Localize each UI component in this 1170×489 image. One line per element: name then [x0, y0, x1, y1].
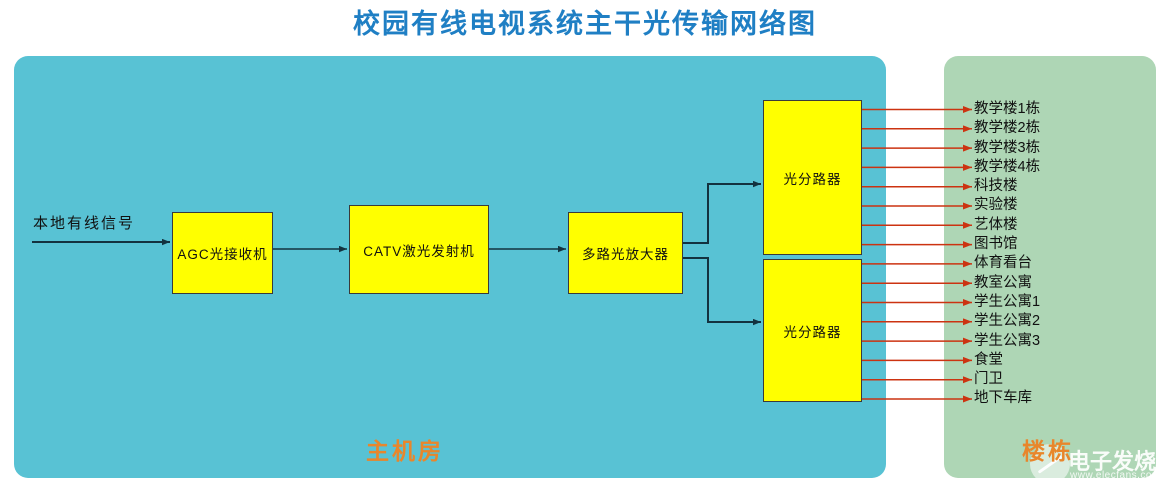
source-signal-label: 本地有线信号 [33, 212, 135, 233]
destination-item: 教学楼1栋 [974, 100, 1164, 119]
destination-item: 实验楼 [974, 196, 1164, 215]
destination-item: 门卫 [974, 370, 1164, 389]
destination-item: 教室公寓 [974, 274, 1164, 293]
watermark-url: www.elecfans.com [1070, 470, 1161, 481]
destination-item: 学生公寓1 [974, 293, 1164, 312]
destination-item: 食堂 [974, 351, 1164, 370]
equipment-box-optical-splitter-2[interactable]: 光分路器 [763, 259, 862, 402]
equipment-box-catv-transmitter[interactable]: CATV激光发射机 [349, 205, 489, 294]
diagram-canvas: 校园有线电视系统主干光传输网络图 本地有线信号 AGC光接收机 CATV激光发射… [0, 0, 1170, 489]
equipment-label: 光分路器 [784, 321, 842, 341]
destination-item: 体育看台 [974, 254, 1164, 273]
destination-item: 学生公寓2 [974, 312, 1164, 331]
destination-item: 图书馆 [974, 235, 1164, 254]
destination-item: 教学楼3栋 [974, 139, 1164, 158]
equipment-label: AGC光接收机 [177, 243, 267, 263]
equipment-label: 多路光放大器 [582, 243, 669, 263]
equipment-box-optical-amplifier[interactable]: 多路光放大器 [568, 212, 683, 294]
destination-item: 艺体楼 [974, 216, 1164, 235]
equipment-box-optical-splitter-1[interactable]: 光分路器 [763, 100, 862, 255]
equipment-box-agc-receiver[interactable]: AGC光接收机 [172, 212, 273, 294]
destination-item: 学生公寓3 [974, 332, 1164, 351]
destination-item: 科技楼 [974, 177, 1164, 196]
buildings-label: 楼栋 [1022, 432, 1074, 466]
equipment-label: 光分路器 [784, 168, 842, 188]
destination-item: 地下车库 [974, 389, 1164, 408]
destination-list: 教学楼1栋教学楼2栋教学楼3栋教学楼4栋科技楼实验楼艺体楼图书馆体育看台教室公寓… [974, 100, 1164, 409]
machine-room-label: 主机房 [366, 432, 444, 466]
equipment-label: CATV激光发射机 [363, 240, 475, 260]
destination-item: 教学楼2栋 [974, 119, 1164, 138]
destination-item: 教学楼4栋 [974, 158, 1164, 177]
page-title: 校园有线电视系统主干光传输网络图 [0, 2, 1170, 41]
